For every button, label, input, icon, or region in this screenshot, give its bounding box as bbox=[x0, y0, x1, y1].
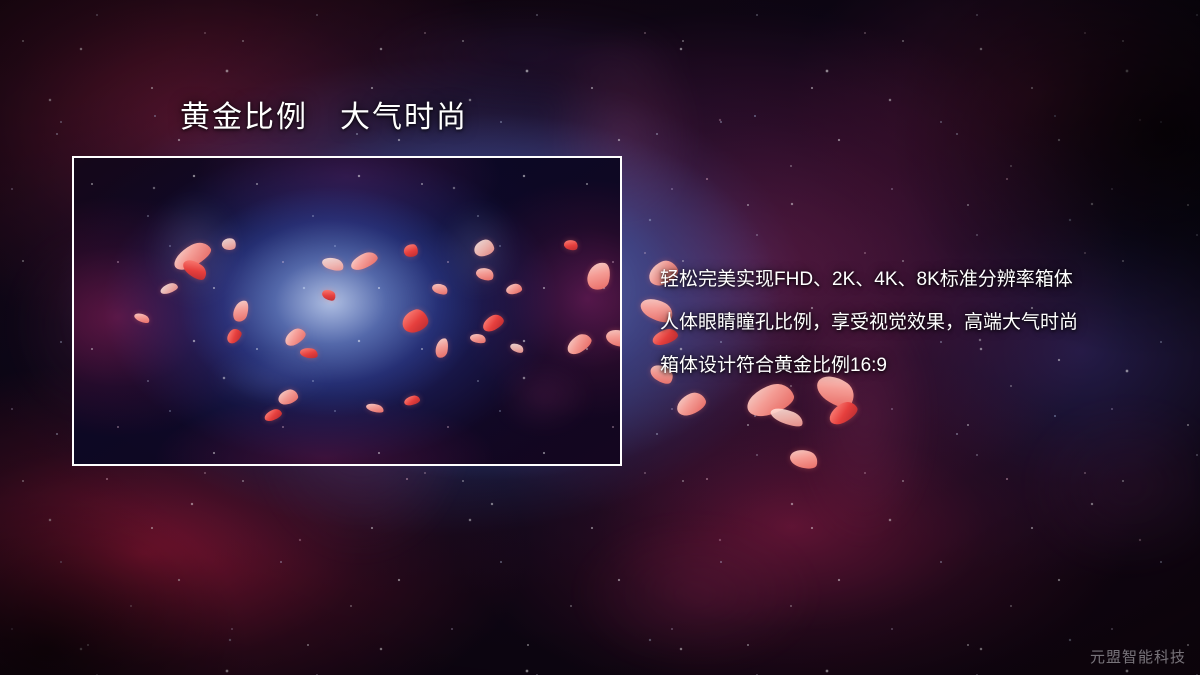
petal bbox=[564, 331, 595, 358]
petal bbox=[282, 325, 308, 348]
petal bbox=[473, 238, 496, 258]
petal bbox=[224, 326, 244, 345]
presentation-slide: 黄金比例 大气时尚 轻松完美实现FHD、2K、4K、8K标准分辨率箱体 人体眼睛… bbox=[0, 0, 1200, 675]
petal bbox=[474, 265, 495, 282]
slide-title: 黄金比例 大气时尚 bbox=[180, 100, 468, 136]
petal bbox=[348, 249, 379, 272]
galaxy-image-panel bbox=[72, 156, 622, 466]
petal bbox=[469, 332, 487, 345]
petal bbox=[221, 237, 237, 252]
body-line-2: 人体眼睛瞳孔比例，享受视觉效果，高端大气时尚 bbox=[660, 301, 1160, 344]
petal bbox=[505, 283, 522, 295]
petal bbox=[263, 407, 283, 423]
petal bbox=[403, 243, 419, 258]
petal bbox=[277, 388, 300, 406]
petal bbox=[480, 312, 506, 334]
panel-petals bbox=[74, 158, 620, 464]
petal bbox=[403, 394, 421, 406]
petal bbox=[563, 238, 579, 252]
petal bbox=[431, 281, 450, 296]
petal bbox=[231, 298, 251, 323]
body-line-3: 箱体设计符合黄金比例16:9 bbox=[660, 344, 1160, 387]
petal bbox=[321, 255, 346, 273]
petal bbox=[365, 402, 385, 415]
petal bbox=[159, 281, 179, 295]
petal bbox=[604, 326, 622, 350]
body-text-block: 轻松完美实现FHD、2K、4K、8K标准分辨率箱体 人体眼睛瞳孔比例，享受视觉效… bbox=[660, 258, 1160, 387]
petal bbox=[434, 337, 449, 359]
petal bbox=[299, 346, 319, 360]
watermark-text: 元盟智能科技 bbox=[1090, 646, 1186, 667]
petal bbox=[585, 260, 613, 292]
petal bbox=[399, 307, 430, 335]
petal bbox=[320, 287, 337, 303]
petal bbox=[133, 311, 151, 325]
petal bbox=[509, 341, 525, 354]
body-line-1: 轻松完美实现FHD、2K、4K、8K标准分辨率箱体 bbox=[660, 258, 1160, 301]
